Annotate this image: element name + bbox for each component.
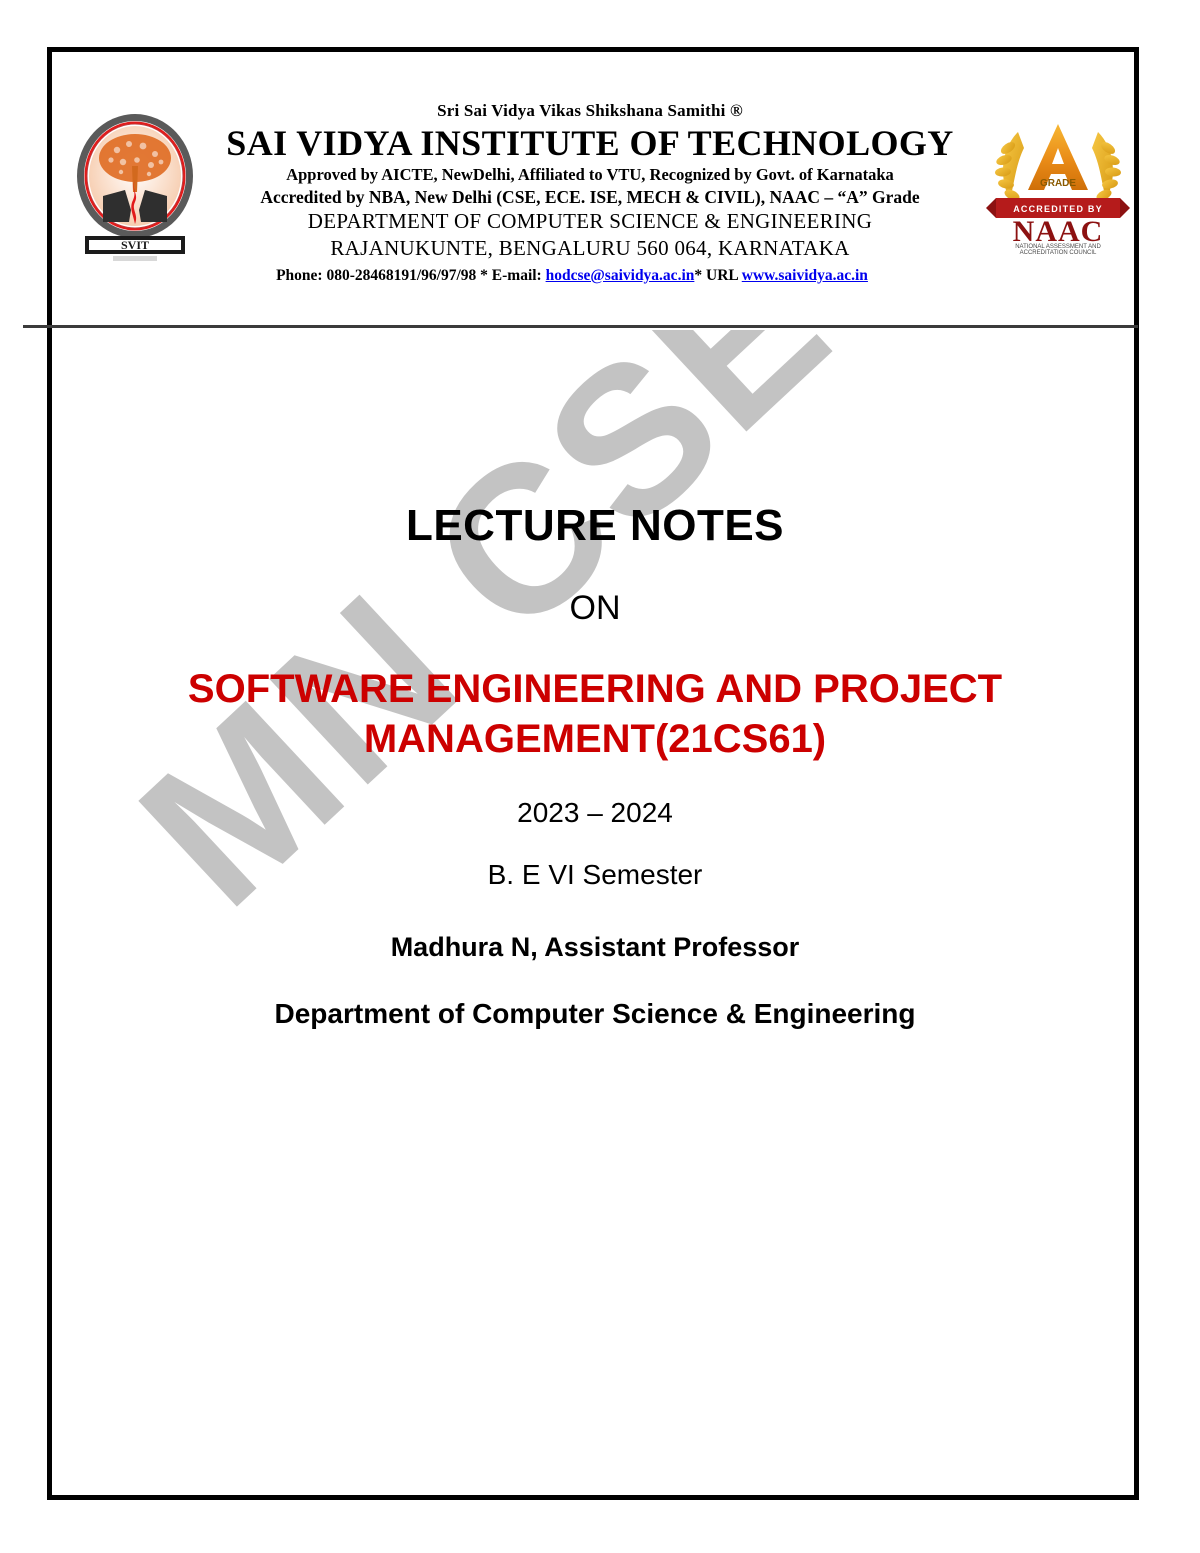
contact-line: Phone: 080-28468191/96/97/98 * E-mail: h…	[187, 265, 957, 287]
letterhead: SVIT Sri Sai Vidya Vikas Shikshana Samit…	[55, 100, 1140, 315]
on-connector: ON	[60, 588, 1130, 628]
institute-name: SAI VIDYA INSTITUTE OF TECHNOLOGY	[205, 122, 975, 164]
author-department: Department of Computer Science & Enginee…	[60, 996, 1130, 1032]
society-name: Sri Sai Vidya Vikas Shikshana Samithi ®	[205, 100, 975, 122]
subject-title: SOFTWARE ENGINEERING AND PROJECT MANAGEM…	[60, 664, 1130, 764]
program-semester: B. E VI Semester	[60, 858, 1130, 892]
email-label: E-mail:	[492, 267, 542, 284]
phone-value: 080-28468191/96/97/98	[326, 267, 476, 284]
document-page: SVIT Sri Sai Vidya Vikas Shikshana Samit…	[0, 0, 1200, 1553]
naac-subtitle-2: ACCREDITATION COUNCIL	[1020, 250, 1097, 254]
email-link[interactable]: hodcse@saividya.ac.in	[546, 267, 695, 284]
contact-separator-2: *	[694, 267, 702, 284]
naac-ribbon-text: ACCREDITED BY	[1013, 204, 1103, 214]
url-label: URL	[706, 267, 738, 284]
author-name: Madhura N, Assistant Professor	[60, 930, 1130, 964]
department-line: DEPARTMENT OF COMPUTER SCIENCE & ENGINEE…	[205, 208, 975, 235]
naac-a-grade-logo: GRADE ACCREDITED BY NAAC NATIONAL ASSESS…	[984, 114, 1132, 254]
approval-line: Approved by AICTE, NewDelhi, Affiliated …	[205, 164, 975, 186]
academic-year: 2023 – 2024	[60, 796, 1130, 830]
phone-label: Phone:	[276, 267, 323, 284]
contact-separator-1: *	[480, 267, 488, 284]
lecture-notes-heading: LECTURE NOTES	[60, 500, 1130, 552]
svit-crest-logo: SVIT	[73, 110, 197, 270]
svg-text:SVIT: SVIT	[121, 238, 149, 252]
letterhead-text-block: Sri Sai Vidya Vikas Shikshana Samithi ® …	[205, 100, 975, 287]
cover-title-block: LECTURE NOTES ON SOFTWARE ENGINEERING AN…	[60, 500, 1130, 1032]
website-link[interactable]: www.saividya.ac.in	[742, 267, 868, 284]
naac-grade-text: GRADE	[1040, 178, 1076, 189]
accreditation-line: Accredited by NBA, New Delhi (CSE, ECE. …	[205, 186, 975, 208]
address-line: RAJANUKUNTE, BENGALURU 560 064, KARNATAK…	[205, 235, 975, 262]
header-separator-rule	[23, 325, 1138, 328]
